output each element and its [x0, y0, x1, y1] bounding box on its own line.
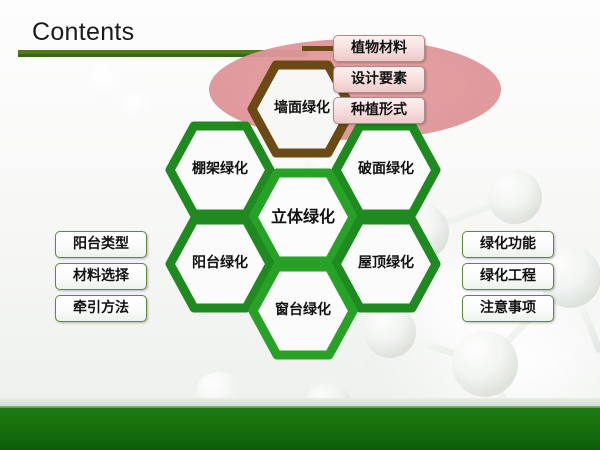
page-title: Contents — [32, 18, 134, 47]
callout-material-choice[interactable]: 材料选择 — [55, 263, 147, 290]
callout-design-elements[interactable]: 设计要素 — [333, 66, 425, 93]
callout-precautions[interactable]: 注意事项 — [462, 295, 554, 322]
callout-balcony-type[interactable]: 阳台类型 — [55, 231, 147, 258]
footer-green-bar — [0, 408, 600, 450]
callout-plant-material[interactable]: 植物材料 — [333, 35, 425, 62]
slide-canvas: Contents 墙面绿化 棚架绿化 破面绿化 — [0, 0, 600, 450]
callout-traction-method[interactable]: 牵引方法 — [55, 295, 147, 322]
callout-greening-function[interactable]: 绿化功能 — [462, 231, 554, 258]
ghost-sphere-1 — [88, 62, 130, 104]
callout-planting-form[interactable]: 种植形式 — [333, 97, 425, 124]
hexagon-window-greening[interactable]: 窗台绿化 — [251, 265, 355, 357]
callout-greening-project[interactable]: 绿化工程 — [462, 263, 554, 290]
ghost-sphere-2 — [124, 92, 154, 122]
